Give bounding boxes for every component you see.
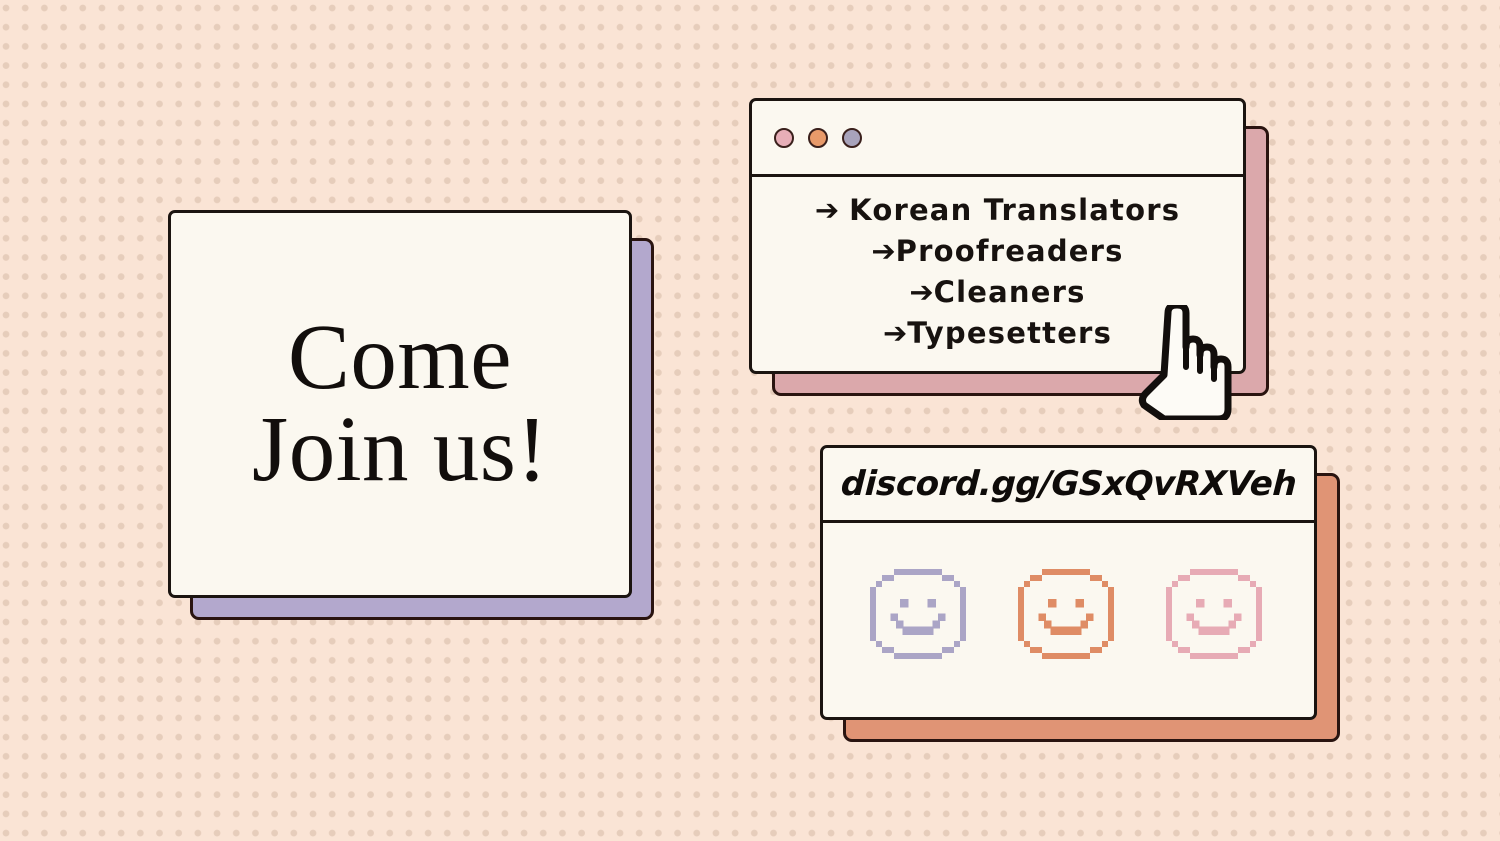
list-item: ➔Typesetters	[883, 313, 1112, 354]
role-label: Proofreaders	[896, 234, 1124, 268]
discord-url-bar[interactable]: discord.gg/GSxQvRXVeh	[823, 448, 1314, 523]
window-dot-orange-icon[interactable]	[808, 128, 828, 148]
pointing-hand-cursor-icon	[1138, 305, 1234, 420]
arrow-right-icon: ➔	[909, 275, 933, 309]
list-item: ➔Proofreaders	[871, 231, 1123, 272]
smiley-pink-icon	[1166, 569, 1268, 671]
page-title: Come Join us!	[252, 312, 548, 496]
arrow-right-icon: ➔	[883, 316, 907, 350]
role-label: Cleaners	[934, 275, 1086, 309]
window-dot-pink-icon[interactable]	[774, 128, 794, 148]
role-label: Korean Translators	[849, 193, 1180, 227]
discord-window: discord.gg/GSxQvRXVeh	[820, 445, 1317, 720]
arrow-right-icon: ➔	[871, 234, 895, 268]
arrow-right-icon: ➔	[815, 193, 839, 227]
window-dot-purple-icon[interactable]	[842, 128, 862, 148]
smiley-purple-icon	[870, 569, 972, 671]
list-item: ➔Cleaners	[909, 272, 1085, 313]
roles-window-titlebar	[752, 101, 1243, 177]
smiley-row	[823, 523, 1314, 717]
smiley-orange-icon	[1018, 569, 1120, 671]
role-label: Typesetters	[907, 316, 1112, 350]
list-item: ➔Korean Translators	[815, 190, 1180, 231]
discord-invite-link[interactable]: discord.gg/GSxQvRXVeh	[840, 464, 1297, 504]
join-card: Come Join us!	[168, 210, 632, 598]
